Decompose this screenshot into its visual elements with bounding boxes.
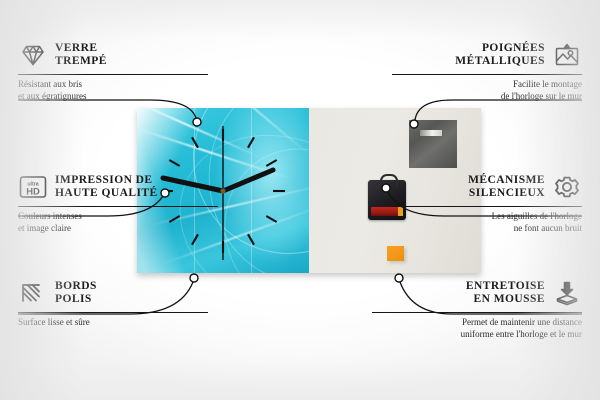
- foam-spacer-icon: [552, 278, 582, 308]
- hanger-slot: [420, 130, 442, 136]
- feature-entretoise-en-mousse: ENTRETOISE EN MOUSSE Permet de maintenir…: [372, 278, 582, 340]
- feature-poignees-metalliques: POIGNÉES MÉTALLIQUES Facilite le montage…: [392, 40, 582, 102]
- gear-icon: [552, 172, 582, 202]
- feature-subtitle: Facilite le montage de l'horloge sur le …: [392, 79, 582, 102]
- feature-impression-haute-qualite: ultra HD IMPRESSION DE HAUTE QUALITÉ Cou…: [18, 172, 218, 234]
- feature-title: MÉCANISME SILENCIEUX: [468, 174, 545, 201]
- divider: [372, 312, 582, 313]
- foam-spacer-part: [387, 246, 404, 261]
- svg-text:HD: HD: [26, 186, 40, 197]
- feature-heading: VERRE TREMPÉ: [18, 40, 208, 70]
- metal-hanger-bracket: [409, 120, 457, 168]
- feature-title: VERRE TREMPÉ: [55, 42, 107, 69]
- product-infographic: VERRE TREMPÉ Résistant aux bris et aux é…: [0, 0, 600, 400]
- divider: [18, 206, 218, 207]
- feature-subtitle: Couleurs intenses et image claire: [18, 211, 218, 234]
- divider: [18, 312, 208, 313]
- feature-verre-trempe: VERRE TREMPÉ Résistant aux bris et aux é…: [18, 40, 208, 102]
- picture-hanger-icon: [552, 40, 582, 70]
- ultra-hd-icon: ultra HD: [18, 172, 48, 202]
- feature-subtitle: Permet de maintenir une distance uniform…: [372, 317, 582, 340]
- feature-heading: ENTRETOISE EN MOUSSE: [372, 278, 582, 308]
- feature-subtitle: Surface lisse et sûre: [18, 317, 208, 329]
- feature-heading: ultra HD IMPRESSION DE HAUTE QUALITÉ: [18, 172, 218, 202]
- divider: [392, 206, 582, 207]
- feature-mecanisme-silencieux: MÉCANISME SILENCIEUX Les aiguilles de l'…: [392, 172, 582, 234]
- feature-title: IMPRESSION DE HAUTE QUALITÉ: [55, 174, 158, 201]
- feature-heading: MÉCANISME SILENCIEUX: [392, 172, 582, 202]
- divider: [18, 74, 208, 75]
- feature-subtitle: Résistant aux bris et aux égratignures: [18, 79, 208, 102]
- feature-title: BORDS POLIS: [55, 280, 97, 307]
- divider: [392, 74, 582, 75]
- feature-title: ENTRETOISE EN MOUSSE: [466, 280, 545, 307]
- polished-edges-icon: [18, 278, 48, 308]
- diamond-icon: [18, 40, 48, 70]
- feature-bords-polis: BORDS POLIS Surface lisse et sûre: [18, 278, 208, 329]
- feature-heading: POIGNÉES MÉTALLIQUES: [392, 40, 582, 70]
- feature-title: POIGNÉES MÉTALLIQUES: [455, 42, 545, 69]
- feature-heading: BORDS POLIS: [18, 278, 208, 308]
- feature-subtitle: Les aiguilles de l'horloge ne font aucun…: [392, 211, 582, 234]
